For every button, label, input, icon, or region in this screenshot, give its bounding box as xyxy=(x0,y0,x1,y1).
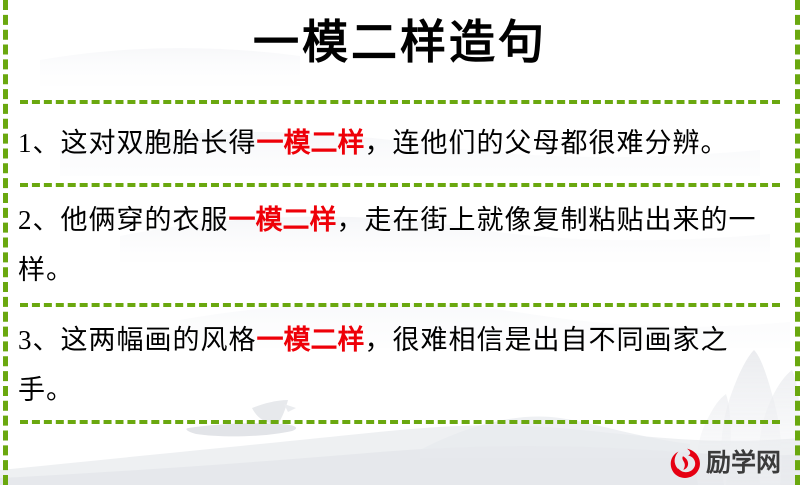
idiom-highlight-2: 一模二样 xyxy=(229,205,337,235)
sentence-number-1: 1、 xyxy=(18,128,61,158)
idiom-highlight-3: 一模二样 xyxy=(257,325,365,355)
red-swirl-phoenix-icon xyxy=(668,446,702,480)
site-logo-text: 励学网 xyxy=(706,446,781,480)
sentence-number-2: 2、 xyxy=(18,205,61,235)
slide-page: 一模二样造句 1、这对双胞胎长得一模二样，连他们的父母都很难分辨。 2、他俩穿的… xyxy=(0,0,800,485)
sentence-number-3: 3、 xyxy=(18,325,61,355)
idiom-highlight-1: 一模二样 xyxy=(257,128,365,158)
sentence-item-2: 2、他俩穿的衣服一模二样，走在街上就像复制粘贴出来的一样。 xyxy=(18,195,780,295)
site-logo[interactable]: 励学网 xyxy=(668,444,790,482)
sentence-text-before-1: 这对双胞胎长得 xyxy=(61,128,257,158)
divider-rule-top xyxy=(20,100,780,104)
sentence-text-before-3: 这两幅画的风格 xyxy=(61,325,257,355)
divider-rule-1 xyxy=(20,183,780,187)
divider-rule-2 xyxy=(20,303,780,307)
sentence-item-1: 1、这对双胞胎长得一模二样，连他们的父母都很难分辨。 xyxy=(18,118,780,168)
sentence-item-3: 3、这两幅画的风格一模二样，很难相信是出自不同画家之手。 xyxy=(18,315,780,415)
divider-rule-bottom xyxy=(20,420,780,424)
page-title: 一模二样造句 xyxy=(0,12,800,74)
sentence-text-before-2: 他俩穿的衣服 xyxy=(61,205,229,235)
sentence-text-after-1: ，连他们的父母都很难分辨。 xyxy=(365,128,729,158)
